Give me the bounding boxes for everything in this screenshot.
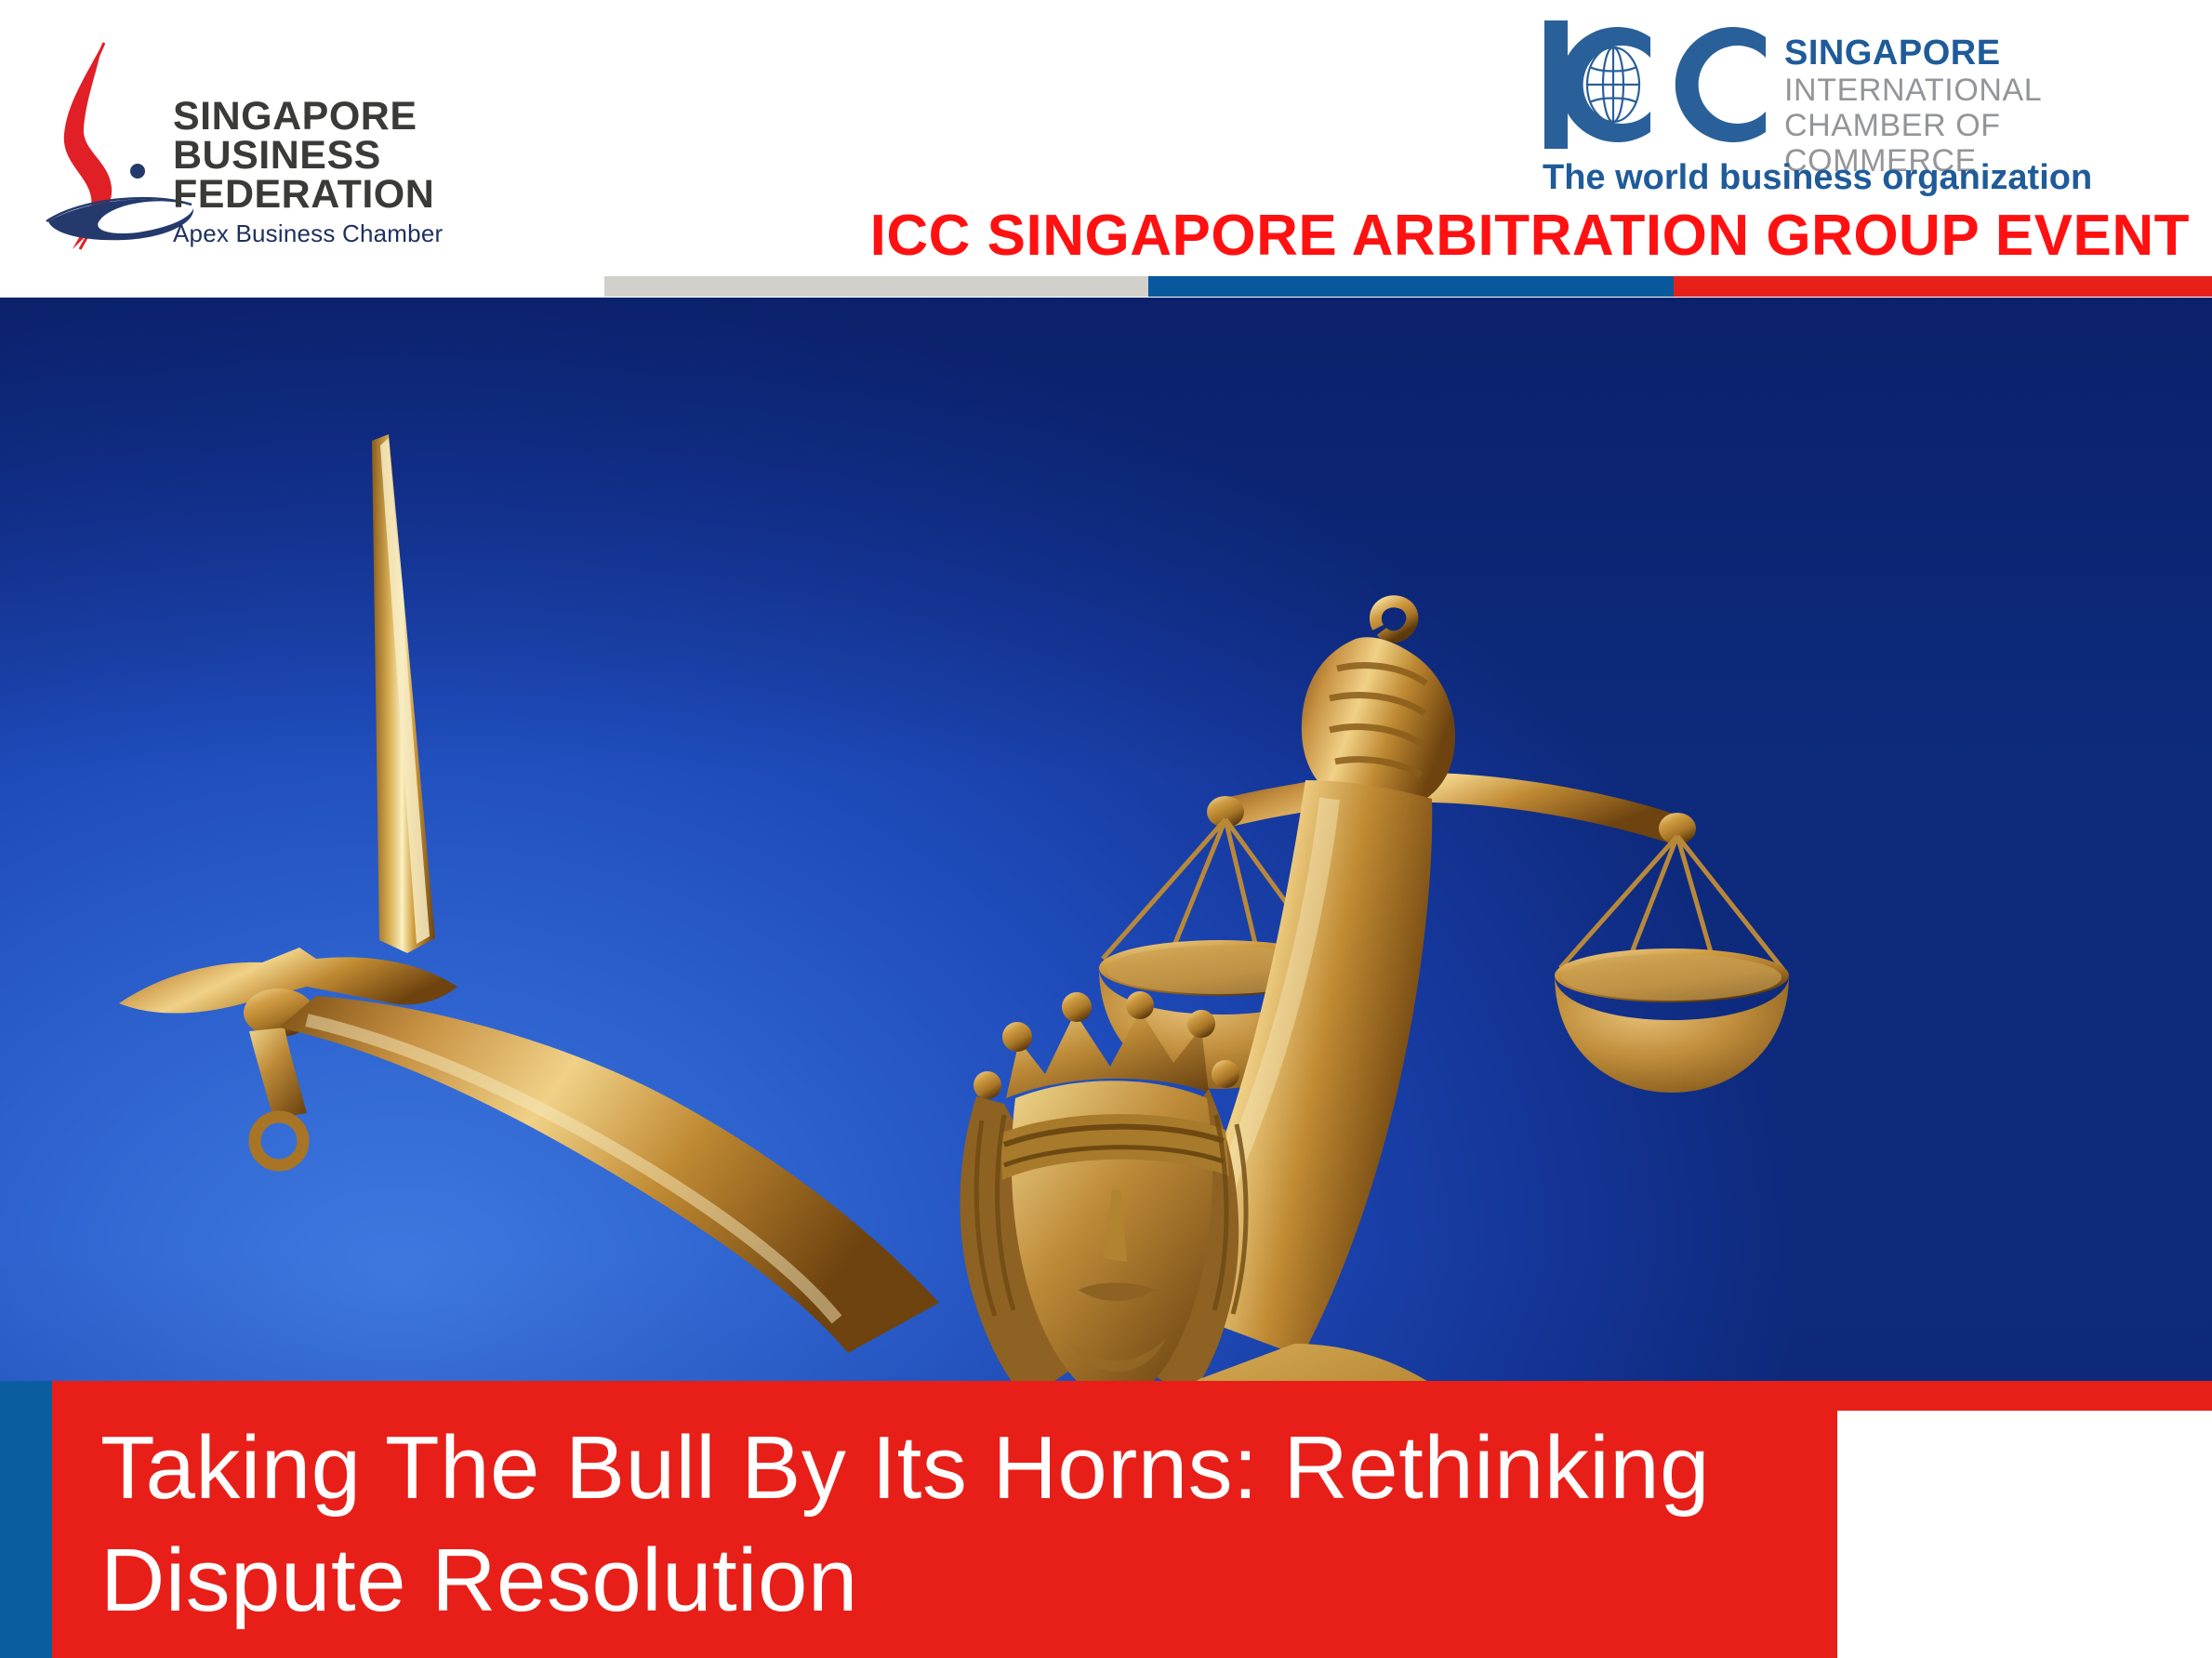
banner-accent-strip [0,1381,52,1658]
icc-tagline: The world business organization [1543,158,2092,198]
icc-word-singapore: SINGAPORE [1784,35,2192,73]
icc-logo: SINGAPORE INTERNATIONAL CHAMBER OF COMME… [1541,11,2192,197]
left-arm [279,996,939,1353]
icc-globe-logo-icon [1541,15,1773,154]
icc-wordmark: SINGAPORE INTERNATIONAL CHAMBER OF COMME… [1784,35,2192,179]
slide-header: SINGAPORE BUSINESS FEDERATION Apex Busin… [0,0,2212,298]
slide-title-line-1: Taking The Bull By Its Horns: Rethinking [100,1413,1802,1525]
color-bar-red-segment [1674,276,2212,297]
title-banner: Taking The Bull By Its Horns: Rethinking… [0,1381,2212,1658]
event-title: ICC SINGAPORE ARBITRATION GROUP EVENT [0,203,2190,269]
sbf-line-business: BUSINESS [173,136,517,175]
head [960,991,1246,1401]
banner-white-block [1837,1411,2212,1658]
icc-word-international: INTERNATIONAL [1784,73,2192,108]
slide-title: Taking The Bull By Its Horns: Rethinking… [100,1413,1802,1638]
color-bar-gray-segment [604,276,1148,297]
color-bar-blue-segment [1148,276,1674,297]
title-slide: SINGAPORE BUSINESS FEDERATION Apex Busin… [0,0,2212,1658]
header-color-bar [0,276,2212,297]
sbf-line-singapore: SINGAPORE [173,97,517,136]
slide-title-line-2: Dispute Resolution [100,1525,1802,1638]
